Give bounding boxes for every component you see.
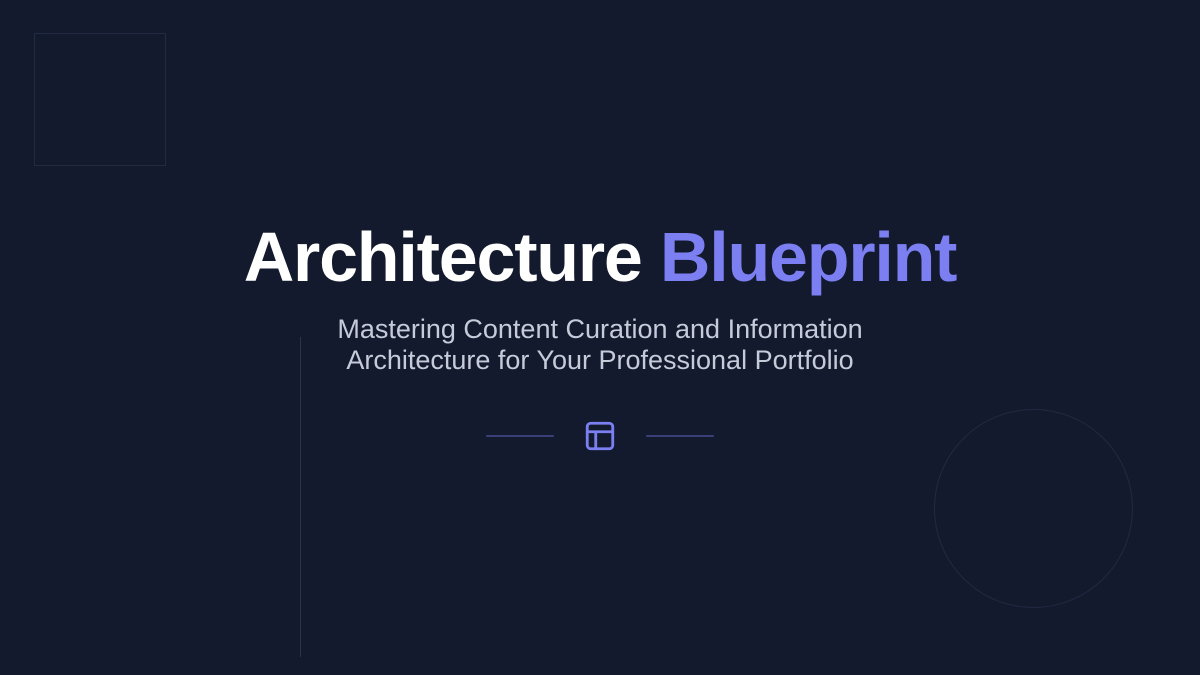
title-primary: Architecture xyxy=(244,218,642,296)
layout-icon xyxy=(583,419,617,453)
title-separator xyxy=(642,218,660,296)
slide-subtitle: Mastering Content Curation and Informati… xyxy=(290,314,910,376)
divider-ornament xyxy=(486,419,714,453)
divider-rule-right xyxy=(646,435,714,437)
title-accent: Blueprint xyxy=(660,218,956,296)
title-slide: Architecture Blueprint Mastering Content… xyxy=(0,0,1200,675)
slide-title: Architecture Blueprint xyxy=(244,222,957,292)
divider-rule-left xyxy=(486,435,554,437)
slide-content: Architecture Blueprint Mastering Content… xyxy=(0,0,1200,675)
